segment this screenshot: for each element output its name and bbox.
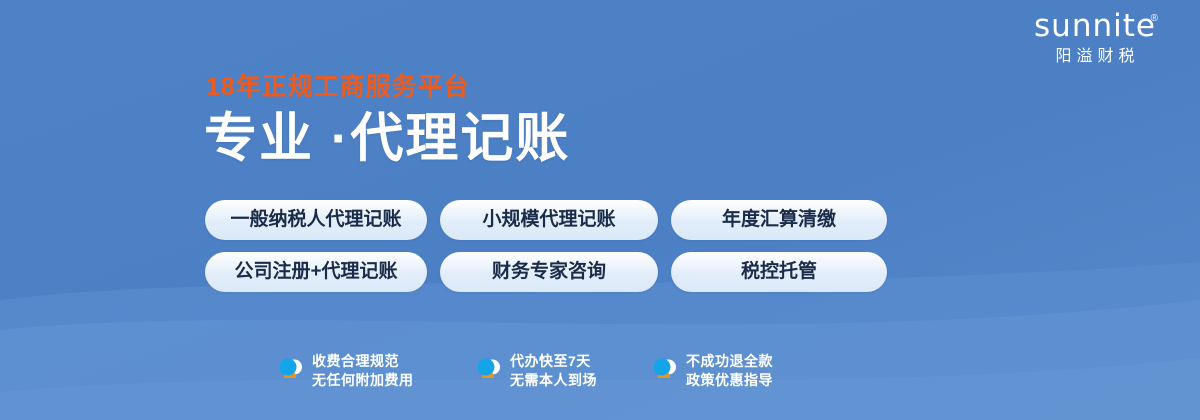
feature-list: 收费合理规范 无任何附加费用 代办快至7天 无需本人到场 不成功退全款	[276, 352, 773, 390]
service-tag-expert-consulting[interactable]: 财务专家咨询	[440, 252, 658, 292]
service-tag-small-scale[interactable]: 小规模代理记账	[440, 200, 658, 240]
service-tag-annual-settlement[interactable]: 年度汇算清缴	[671, 200, 887, 240]
service-tag-list: 一般纳税人代理记账 小规模代理记账 年度汇算清缴 公司注册+代理记账 财务专家咨…	[205, 200, 887, 292]
logo-subtitle: 阳溢财税	[1010, 47, 1180, 67]
service-tag-tax-control-custody[interactable]: 税控托管	[671, 252, 887, 292]
person-badge-icon	[276, 356, 304, 386]
feature-line-2: 无任何附加费用	[312, 371, 414, 390]
feature-item-speed: 代办快至7天 无需本人到场	[474, 352, 614, 390]
feature-line-1: 代办快至7天	[510, 352, 597, 371]
feature-text: 收费合理规范 无任何附加费用	[312, 352, 414, 390]
person-badge-icon	[650, 356, 678, 386]
feature-line-2: 无需本人到场	[510, 371, 597, 390]
logo-wordmark: sunnite	[1034, 8, 1156, 44]
brand-logo[interactable]: sunnite ® 阳溢财税	[1010, 8, 1180, 67]
headline-block: 18年正规工商服务平台 专业 ·代理记账	[204, 72, 964, 170]
service-tag-general-taxpayer[interactable]: 一般纳税人代理记账	[205, 200, 427, 240]
feature-text: 不成功退全款 政策优惠指导	[686, 352, 773, 390]
service-tag-company-registration[interactable]: 公司注册+代理记账	[205, 252, 427, 292]
page-title: 专业 ·代理记账	[204, 108, 964, 170]
eyebrow-text: 18年正规工商服务平台	[206, 72, 964, 102]
promo-banner: sunnite ® 阳溢财税 18年正规工商服务平台 专业 ·代理记账 一般纳税…	[0, 0, 1200, 420]
service-tag-row: 一般纳税人代理记账 小规模代理记账 年度汇算清缴	[205, 200, 887, 240]
service-tag-row: 公司注册+代理记账 财务专家咨询 税控托管	[205, 252, 887, 292]
feature-item-pricing: 收费合理规范 无任何附加费用	[276, 352, 438, 390]
feature-line-1: 收费合理规范	[312, 352, 414, 371]
trademark-icon: ®	[1151, 14, 1158, 24]
feature-line-2: 政策优惠指导	[686, 371, 773, 390]
feature-line-1: 不成功退全款	[686, 352, 773, 371]
feature-item-refund: 不成功退全款 政策优惠指导	[650, 352, 773, 390]
person-badge-icon	[474, 356, 502, 386]
feature-text: 代办快至7天 无需本人到场	[510, 352, 597, 390]
